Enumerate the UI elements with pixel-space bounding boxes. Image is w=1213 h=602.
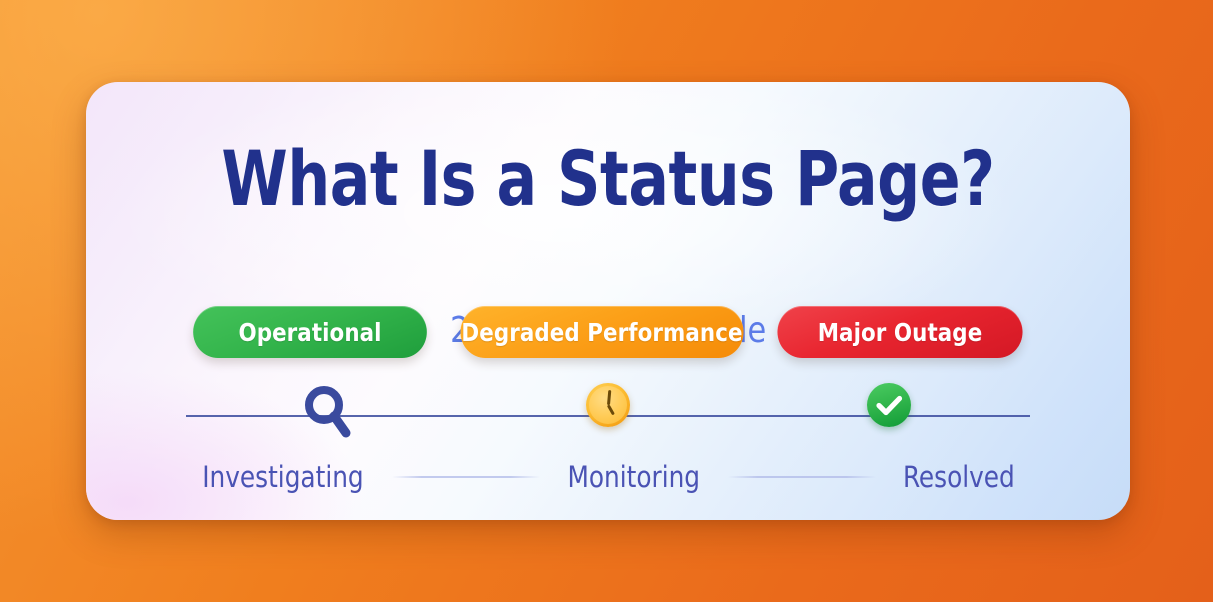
timeline-label-cell-monitoring: Monitoring xyxy=(564,460,704,494)
timeline-step-resolved[interactable] xyxy=(855,382,923,450)
status-page-card: What Is a Status Page? 2026 Practical Gu… xyxy=(86,82,1130,520)
clock-icon xyxy=(586,383,630,427)
timeline-step-monitoring[interactable] xyxy=(574,382,642,450)
status-pill-operational[interactable]: Operational xyxy=(193,306,427,358)
magnifier-icon xyxy=(301,383,353,443)
timeline-label-cell-resolved: Resolved xyxy=(900,460,1018,494)
clock-hour-hand xyxy=(607,404,615,415)
timeline-label-rule-2 xyxy=(728,476,876,478)
status-pill-degraded[interactable]: Degraded Performance xyxy=(460,306,743,358)
timeline-label-resolved: Resolved xyxy=(903,460,1015,494)
check-circle-icon xyxy=(867,383,911,427)
timeline-labels: Investigating Monitoring Resolved xyxy=(186,460,1030,494)
status-pill-outage[interactable]: Major Outage xyxy=(777,306,1022,358)
timeline-step-investigating[interactable] xyxy=(293,382,361,450)
incident-timeline: Investigating Monitoring Resolved xyxy=(186,382,1030,492)
status-pill-row: Operational Degraded Performance Major O… xyxy=(86,306,1130,358)
timeline-label-monitoring: Monitoring xyxy=(568,460,701,494)
timeline-nodes xyxy=(186,382,1030,450)
timeline-label-rule-1 xyxy=(392,476,540,478)
clock-minute-hand xyxy=(607,390,611,405)
checkmark-glyph xyxy=(867,383,911,427)
timeline-label-cell-investigating: Investigating xyxy=(198,460,368,494)
page-title: What Is a Status Page? xyxy=(149,134,1068,223)
timeline-label-investigating: Investigating xyxy=(202,460,363,494)
